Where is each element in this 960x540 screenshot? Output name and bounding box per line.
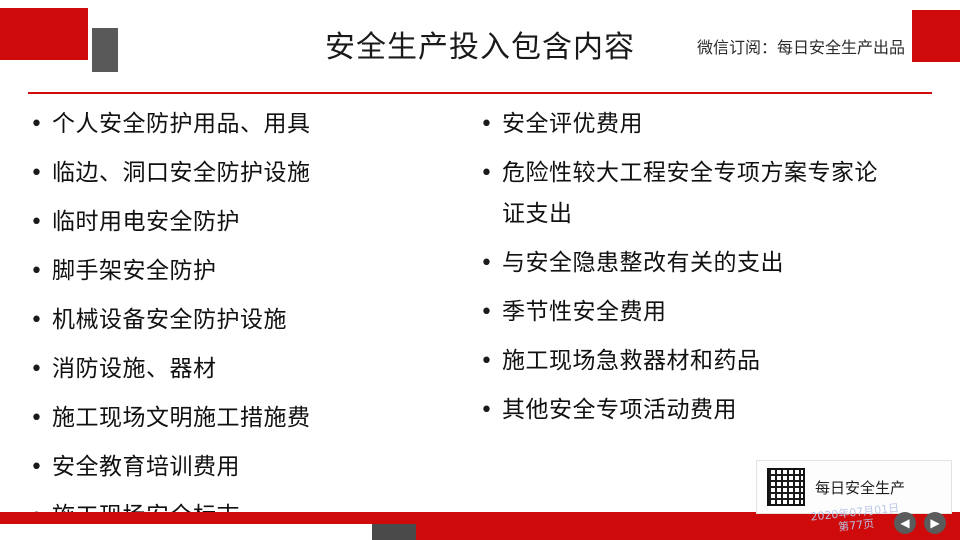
list-item: • 施工现场文明施工措施费 [30,398,440,439]
bullet-dot-icon: • [30,300,52,341]
bottom-dark-notch [372,524,416,540]
list-item: • 脚手架安全防护 [30,251,440,292]
bullet-dot-icon: • [480,341,502,382]
prev-slide-button[interactable]: ◀ [894,512,916,534]
bullet-dot-icon: • [30,153,52,194]
list-item-label: 临边、洞口安全防护设施 [52,153,311,194]
qr-code-icon [767,468,805,506]
bullet-dot-icon: • [30,447,52,488]
slide-root: 安全生产投入包含内容 微信订阅：每日安全生产出品 • 个人安全防护用品、用具 •… [0,0,960,540]
list-item: • 临边、洞口安全防护设施 [30,153,440,194]
list-item: • 其他安全专项活动费用 [480,390,880,431]
list-item: • 安全评优费用 [480,104,880,145]
next-slide-button[interactable]: ▶ [924,512,946,534]
list-item: • 消防设施、器材 [30,349,440,390]
list-item-label: 临时用电安全防护 [52,202,240,243]
list-item-label: 消防设施、器材 [52,349,217,390]
list-item: • 临时用电安全防护 [30,202,440,243]
bullet-dot-icon: • [480,104,502,145]
list-item: • 施工现场急救器材和药品 [480,341,880,382]
list-item: • 机械设备安全防护设施 [30,300,440,341]
bottom-white-notch [0,524,372,540]
list-item-label: 施工现场急救器材和药品 [502,341,761,382]
list-item-label: 个人安全防护用品、用具 [52,104,311,145]
list-item: • 安全教育培训费用 [30,447,440,488]
list-item: • 个人安全防护用品、用具 [30,104,440,145]
list-item: • 危险性较大工程安全专项方案专家论证支出 [480,153,880,235]
list-item: • 与安全隐患整改有关的支出 [480,243,880,284]
subscribe-note: 微信订阅：每日安全生产出品 [697,34,905,58]
list-item-label: 危险性较大工程安全专项方案专家论证支出 [502,153,880,235]
bullet-column-left: • 个人安全防护用品、用具 • 临边、洞口安全防护设施 • 临时用电安全防护 •… [0,104,440,540]
bullet-dot-icon: • [30,202,52,243]
title-divider [28,92,932,94]
bullet-dot-icon: • [30,104,52,145]
list-item-label: 机械设备安全防护设施 [52,300,287,341]
bullet-dot-icon: • [480,390,502,431]
qr-label: 每日安全生产 [815,477,905,498]
bullet-dot-icon: • [30,398,52,439]
bullet-dot-icon: • [480,292,502,333]
bullet-dot-icon: • [480,153,502,194]
list-item: • 季节性安全费用 [480,292,880,333]
list-item-label: 施工现场文明施工措施费 [52,398,311,439]
list-item-label: 其他安全专项活动费用 [502,390,737,431]
list-item-label: 与安全隐患整改有关的支出 [502,243,784,284]
list-item-label: 安全教育培训费用 [52,447,240,488]
bullet-dot-icon: • [480,243,502,284]
list-item-label: 脚手架安全防护 [52,251,217,292]
bullet-dot-icon: • [30,251,52,292]
bullet-dot-icon: • [30,349,52,390]
list-item-label: 季节性安全费用 [502,292,667,333]
list-item-label: 安全评优费用 [502,104,643,145]
